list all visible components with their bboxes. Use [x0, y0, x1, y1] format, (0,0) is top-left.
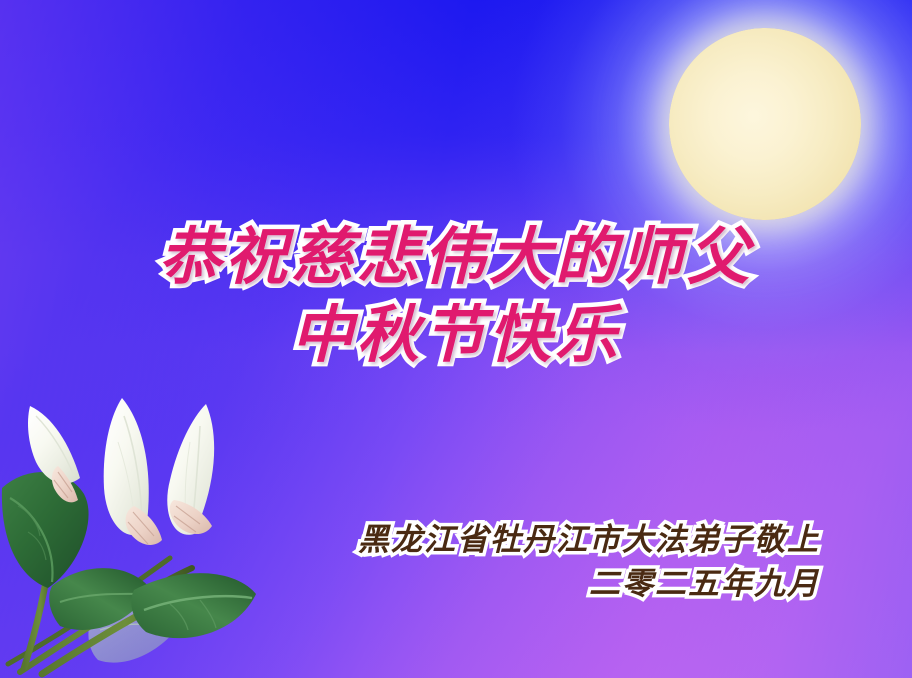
peace-lily-flower-2 [104, 398, 162, 545]
spadix-3 [170, 500, 212, 534]
moon-glow [455, 0, 912, 434]
signature-line-1: 黑龙江省牡丹江市大法弟子敬上 [0, 518, 820, 562]
greeting-title-line-2: 中秋节快乐 [0, 296, 912, 374]
leaf-ghost [88, 601, 184, 663]
spadix-1 [52, 466, 78, 502]
leaf-right [131, 573, 256, 638]
greeting-title-line-1: 恭祝慈悲伟大的师父 [0, 218, 912, 296]
peace-lily-illustration [0, 382, 324, 678]
peace-lily-flower-3 [167, 404, 214, 535]
greeting-title: 恭祝慈悲伟大的师父 中秋节快乐 [0, 218, 912, 374]
leaf-mid [49, 568, 150, 630]
full-moon-icon [669, 28, 861, 220]
signature: 黑龙江省牡丹江市大法弟子敬上 二零二五年九月 [0, 518, 820, 606]
peace-lily-flower-1 [28, 406, 80, 502]
greeting-card: 恭祝慈悲伟大的师父 中秋节快乐 黑龙江省牡丹江市大法弟子敬上 二零二五年九月 [0, 0, 912, 678]
stems [8, 514, 208, 674]
leaf-left [2, 472, 89, 588]
spadix-2 [126, 506, 162, 545]
signature-line-2: 二零二五年九月 [0, 562, 820, 606]
